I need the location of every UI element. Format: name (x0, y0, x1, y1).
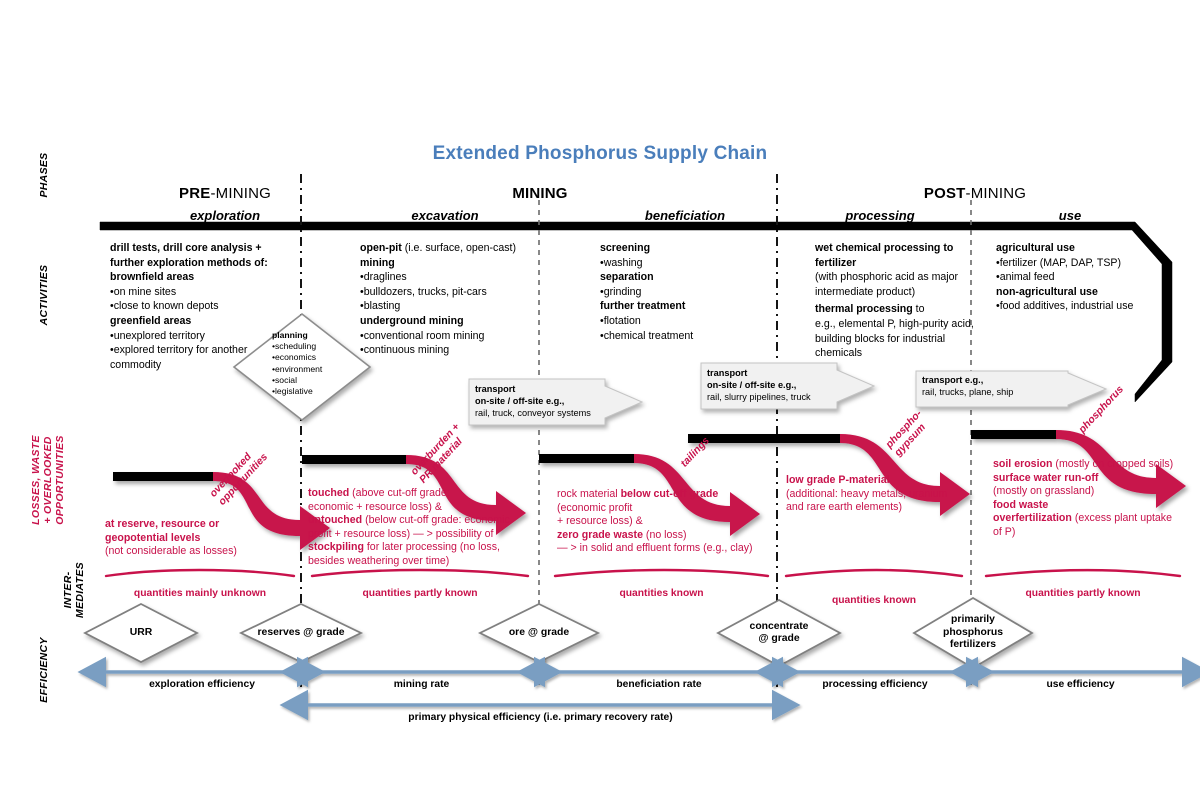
activities-excavation: open-pit (i.e. surface, open-cast) minin… (360, 241, 535, 358)
callout-transport-processing: transport e.g., rail, trucks, plane, shi… (915, 370, 1107, 408)
activities-use: agricultural use •fertilizer (MAP, DAP, … (996, 241, 1171, 314)
diagram-canvas: Extended Phosphorus Supply Chain PHASES … (0, 0, 1200, 800)
losses-excavation: touched (above cut-off grade: economic +… (308, 487, 548, 569)
page-title: Extended Phosphorus Supply Chain (0, 143, 1200, 165)
activities-processing: wet chemical processing to fertilizer (w… (815, 241, 975, 361)
intermediate-label-reserves: reserves @ grade (239, 602, 363, 664)
intermediate-label-ore: ore @ grade (478, 602, 600, 664)
planning-diamond-text: planning •scheduling •economics •environ… (272, 330, 322, 397)
efficiency-label-processing: processing efficiency (783, 679, 967, 690)
intermediate-label-fertilizers: primarily phosphorus fertilizers (912, 596, 1034, 670)
intermediate-diamond-ore: ore @ grade (478, 602, 600, 664)
intermediate-label-urr: URR (83, 602, 199, 664)
intermediate-diamond-reserves: reserves @ grade (239, 602, 363, 664)
activities-beneficiation: screening •washing separation •grinding … (600, 241, 775, 343)
efficiency-label-primary-physical: primary physical efficiency (i.e. primar… (308, 712, 773, 723)
planning-diamond: planning •scheduling •economics •environ… (232, 312, 372, 422)
intermediate-diamond-fertilizers: primarily phosphorus fertilizers (912, 596, 1034, 670)
efficiency-label-mining-rate: mining rate (308, 679, 535, 690)
losses-braces (0, 566, 1200, 590)
efficiency-label-beneficiation-rate: beneficiation rate (545, 679, 773, 690)
callout-transport-beneficiation: transport on-site / off-site e.g., rail,… (700, 362, 875, 410)
intermediate-diamond-concentrate: concentrate @ grade (716, 598, 842, 668)
losses-use: soil erosion (mostly on cropped soils) s… (993, 458, 1200, 540)
losses-processing: low grade P-material (additional: heavy … (786, 474, 971, 515)
intermediate-label-concentrate: concentrate @ grade (716, 598, 842, 668)
quantities-label-exploration: quantities mainly unknown (106, 588, 294, 599)
losses-exploration: at reserve, resource or geopotential lev… (105, 518, 305, 559)
efficiency-label-exploration: exploration efficiency (106, 679, 298, 690)
quantities-label-excavation: quantities partly known (312, 588, 528, 599)
efficiency-label-use: use efficiency (978, 679, 1183, 690)
intermediate-diamond-urr: URR (83, 602, 199, 664)
losses-beneficiation: rock material below cut-off grade (econo… (557, 488, 787, 556)
